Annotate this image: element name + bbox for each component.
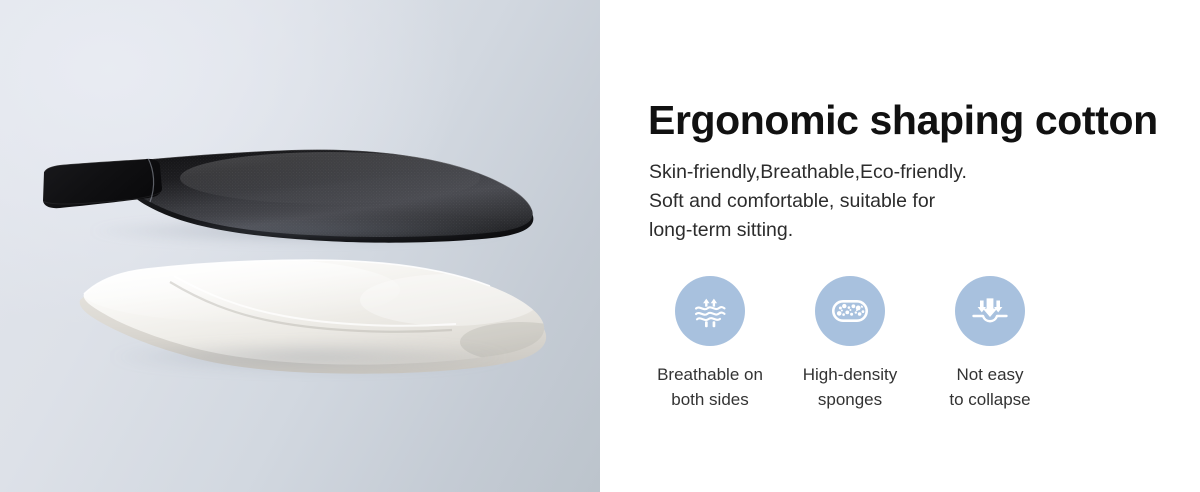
feature-caption-breathable: Breathable on both sides (657, 362, 763, 412)
high-density-foam-cells-icon (828, 289, 872, 333)
product-photo-stage (0, 0, 600, 492)
feature-item-breathable: Breathable on both sides (640, 276, 780, 412)
caption-line: both sides (657, 387, 763, 412)
caption-line: High-density (803, 362, 898, 387)
description-line-2: Soft and comfortable, suitable for (649, 187, 1079, 216)
feature-badge-breathable (675, 276, 745, 346)
feature-caption-high-density: High-density sponges (803, 362, 898, 412)
feature-badge-not-collapse (955, 276, 1025, 346)
description-line-1: Skin-friendly,Breathable,Eco-friendly. (649, 158, 1079, 187)
page-title: Ergonomic shaping cotton (648, 96, 1158, 144)
feature-item-not-collapse: Not easy to collapse (920, 276, 1060, 412)
white-foam-shadow (110, 342, 510, 372)
feature-badge-high-density (815, 276, 885, 346)
white-memory-foam-core (50, 238, 560, 378)
product-description: Skin-friendly,Breathable,Eco-friendly. S… (649, 158, 1079, 245)
product-feature-banner: Ergonomic shaping cotton Skin-friendly,B… (0, 0, 1200, 492)
marketing-copy-panel: Ergonomic shaping cotton Skin-friendly,B… (600, 0, 1200, 492)
caption-line: Not easy (949, 362, 1030, 387)
breathable-airflow-icon (689, 290, 731, 332)
feature-list: Breathable on both sides (640, 276, 1060, 412)
caption-line: Breathable on (657, 362, 763, 387)
caption-line: sponges (803, 387, 898, 412)
description-line-3: long-term sitting. (649, 216, 1079, 245)
feature-item-high-density: High-density sponges (780, 276, 920, 412)
feature-caption-not-collapse: Not easy to collapse (949, 362, 1030, 412)
anti-collapse-compression-icon (969, 290, 1011, 332)
caption-line: to collapse (949, 387, 1030, 412)
product-photo-panel (0, 0, 600, 492)
black-mesh-cushion-cover (30, 130, 550, 250)
